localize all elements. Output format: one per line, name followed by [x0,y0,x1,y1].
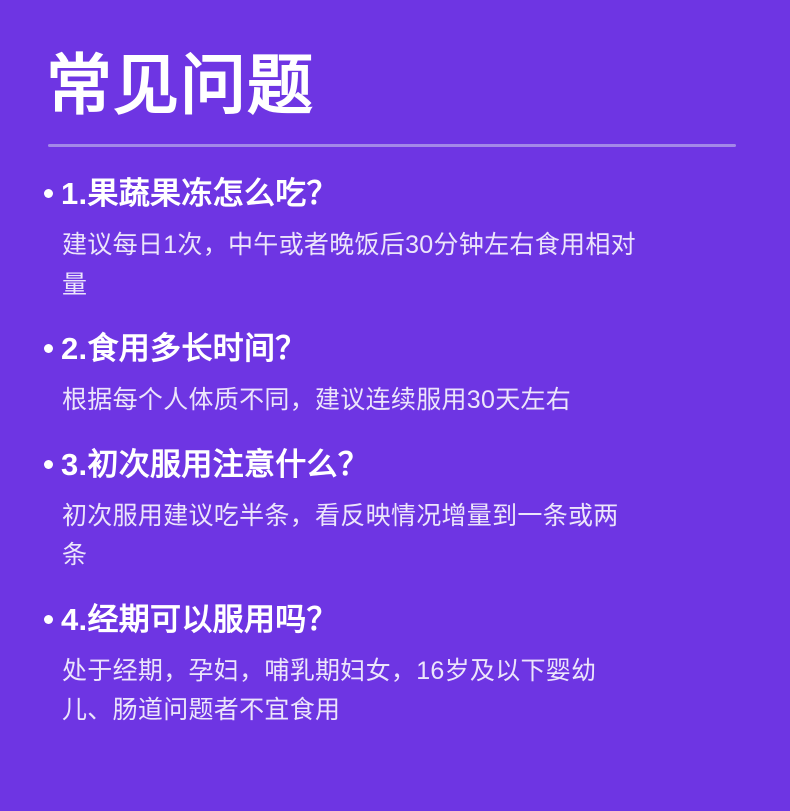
faq-question: 2.食用多长时间？ [44,327,760,371]
faq-question-label: 3.初次服用注意什么？ [61,443,369,487]
page-title: 常见问题 [46,46,314,125]
faq-question-label: 4.经期可以服用吗？ [61,598,338,642]
faq-answer: 处于经期，孕妇，哺乳期妇女，16岁及以下婴幼儿、肠道问题者不宜食用 [62,652,637,731]
faq-answer: 根据每个人体质不同，建议连续服用30天左右 [62,381,637,421]
title-divider [48,144,736,147]
faq-question-label: 1.果蔬果冻怎么吃？ [61,172,338,216]
faq-answer: 建议每日1次，中午或者晚饭后30分钟左右食用相对量 [62,226,637,305]
faq-question: 3.初次服用注意什么？ [44,443,760,487]
bullet-dot-icon [44,344,53,353]
faq-item: 1.果蔬果冻怎么吃？ 建议每日1次，中午或者晚饭后30分钟左右食用相对量 [0,172,790,305]
bullet-dot-icon [44,615,53,624]
faq-item: 2.食用多长时间？ 根据每个人体质不同，建议连续服用30天左右 [0,327,790,421]
faq-list: 1.果蔬果冻怎么吃？ 建议每日1次，中午或者晚饭后30分钟左右食用相对量 2.食… [0,172,790,753]
faq-answer: 初次服用建议吃半条，看反映情况增量到一条或两条 [62,497,637,576]
faq-question: 4.经期可以服用吗？ [44,598,760,642]
faq-item: 4.经期可以服用吗？ 处于经期，孕妇，哺乳期妇女，16岁及以下婴幼儿、肠道问题者… [0,598,790,731]
faq-question-label: 2.食用多长时间？ [61,327,307,371]
bullet-dot-icon [44,460,53,469]
faq-item: 3.初次服用注意什么？ 初次服用建议吃半条，看反映情况增量到一条或两条 [0,443,790,576]
faq-page: 常见问题 1.果蔬果冻怎么吃？ 建议每日1次，中午或者晚饭后30分钟左右食用相对… [0,0,790,811]
bullet-dot-icon [44,189,53,198]
faq-question: 1.果蔬果冻怎么吃？ [44,172,760,216]
